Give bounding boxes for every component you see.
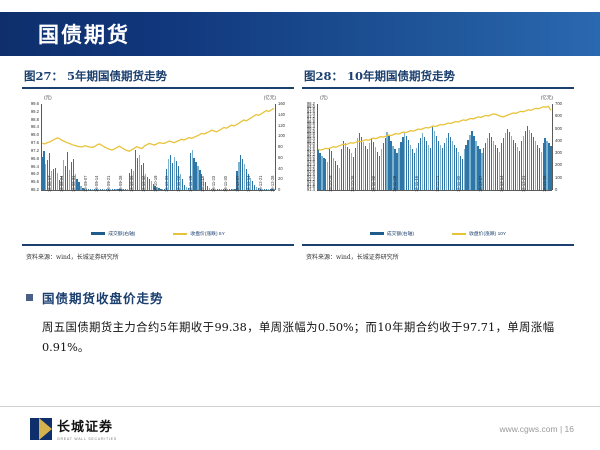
chart-ytick-right: 0 — [555, 188, 573, 192]
chart-xtick: 18-12-14 — [247, 176, 251, 192]
chart-axis-right — [275, 104, 276, 190]
chart-canvas-fig28: (元)(亿元)91.491.691.892.092.292.492.692.89… — [302, 94, 574, 212]
chart-canvas-fig27: (元)(亿元)95.295.696.096.496.897.297.698.09… — [22, 94, 294, 212]
legend-label: 成交额(右轴) — [108, 230, 135, 237]
chart-ytick-left: 95.2 — [23, 188, 39, 192]
chart-bar — [550, 146, 551, 190]
chart-xtick: 18-08-31 — [72, 176, 76, 192]
chart-xtick: 18-11-16 — [415, 176, 419, 192]
chart-ytick-right: 40 — [278, 167, 293, 171]
figure-fig28: 图28： 10年期国债期货走势 (元)(亿元)91.491.691.892.09… — [302, 68, 574, 286]
figure-fig27: 图27： 5年期国债期货走势 (元)(亿元)95.295.696.096.496… — [22, 68, 294, 286]
figure-source: 资料来源：wind，长城证券研究所 — [22, 252, 119, 261]
chart-ytick-right: 700 — [555, 102, 573, 106]
legend-item: 成交额(右轴) — [370, 230, 414, 237]
chart-ytick-right: 400 — [555, 139, 573, 143]
chart-ytick-left: 99.6 — [23, 102, 39, 106]
chart-ytick-right: 500 — [555, 127, 573, 131]
chart-xtick: 18-11-09 — [393, 176, 397, 192]
chart-xtick: 18-10-12 — [142, 176, 146, 192]
legend-bar-swatch-icon — [91, 232, 105, 235]
chart-xtick: 18-12-07 — [479, 176, 483, 192]
chart-xtick: 18-11-09 — [189, 176, 193, 192]
chart-xtick: 18-09-28 — [119, 176, 123, 192]
chart-xtick: 18-10-19 — [154, 176, 158, 192]
chart-xtick: 18-11-23 — [436, 176, 440, 192]
chart-xtick: 18-12-14 — [500, 176, 504, 192]
figure-source: 资料来源：wind，长城证券研究所 — [302, 252, 399, 261]
company-logo: 长城证券 GREAT WALL SECURITIES — [30, 416, 117, 441]
chart-xtick: 18-12-07 — [236, 176, 240, 192]
chart-ytick-left: 98.2 — [303, 102, 315, 106]
chart-xtick: 18-09-21 — [107, 176, 111, 192]
chart-ytick-left: 98.8 — [23, 118, 39, 122]
chart-right-unit: (亿元) — [264, 95, 276, 101]
chart-ytick-right: 80 — [278, 145, 293, 149]
chart-ytick-right: 20 — [278, 177, 293, 181]
chart-ytick-right: 140 — [278, 113, 293, 117]
chart-legend-fig27: 成交额(右轴)收盘价(涨跌) 5Y — [22, 230, 294, 237]
figure-title: 图27： 5年期国债期货走势 — [22, 68, 294, 84]
section-heading: 国债期货收盘价走势 — [26, 288, 164, 307]
figure-bottom-rule — [302, 244, 574, 246]
chart-price-line — [22, 94, 294, 212]
chart-xtick: 18-10-05 — [130, 176, 134, 192]
chart-xtick: 18-11-16 — [201, 176, 205, 192]
chart-xtick: 18-08-17 — [48, 176, 52, 192]
bullet-square-icon — [26, 294, 33, 301]
section-heading-label: 国债期货收盘价走势 — [42, 288, 164, 307]
legend-label: 成交额(右轴) — [387, 230, 414, 237]
chart-xtick: 18-12-28 — [543, 176, 547, 192]
chart-ytick-right: 100 — [278, 134, 293, 138]
footer-page-number: 16 — [565, 424, 574, 434]
legend-bar-swatch-icon — [370, 232, 384, 235]
footer-separator: | — [560, 424, 562, 434]
chart-right-unit: (亿元) — [541, 95, 553, 101]
chart-ytick-left: 95.6 — [23, 180, 39, 184]
chart-left-unit: (元) — [44, 95, 52, 101]
chart-xtick: 18-10-19 — [329, 176, 333, 192]
slide: 国债期货 图27： 5年期国债期货走势 (元)(亿元)95.295.696.09… — [0, 0, 600, 450]
chart-ytick-right: 300 — [555, 151, 573, 155]
legend-item: 收盘价(涨跌) 5Y — [173, 230, 224, 237]
chart-legend-fig28: 成交额(右轴)收盘价(涨跌) 10Y — [302, 230, 574, 237]
chart-xtick: 18-10-26 — [351, 176, 355, 192]
logo-text-cn: 长城证券 — [57, 416, 117, 435]
chart-xtick: 18-11-23 — [212, 176, 216, 192]
page-title: 国债期货 — [38, 19, 130, 49]
chart-ytick-left: 96.4 — [23, 165, 39, 169]
figure-title-rule — [302, 87, 574, 89]
legend-item: 收盘价(涨跌) 10Y — [452, 230, 506, 237]
chart-xtick: 18-12-28 — [271, 176, 275, 192]
chart-ytick-right: 60 — [278, 156, 293, 160]
chart-xtick: 18-12-21 — [259, 176, 263, 192]
legend-item: 成交额(右轴) — [91, 230, 135, 237]
chart-xtick: 18-12-21 — [522, 176, 526, 192]
chart-xtick: 18-11-30 — [224, 176, 228, 192]
chart-xtick: 18-11-30 — [457, 176, 461, 192]
chart-ytick-left: 96.0 — [23, 172, 39, 176]
chart-ytick-right: 160 — [278, 102, 293, 106]
chart-ytick-left: 97.2 — [23, 149, 39, 153]
chart-ytick-left: 98.4 — [23, 125, 39, 129]
chart-ytick-right: 200 — [555, 163, 573, 167]
chart-ytick-right: 0 — [278, 188, 293, 192]
chart-ytick-right: 600 — [555, 114, 573, 118]
chart-xtick: 18-08-24 — [60, 176, 64, 192]
figure-bottom-rule — [22, 244, 294, 246]
chart-ytick-right: 120 — [278, 124, 293, 128]
chart-xtick: 18-09-14 — [95, 176, 99, 192]
chart-ytick-left: 98.0 — [23, 133, 39, 137]
chart-xtick: 18-10-26 — [165, 176, 169, 192]
legend-line-swatch-icon — [452, 233, 466, 235]
logo-text-en: GREAT WALL SECURITIES — [57, 437, 117, 441]
figure-title: 图28： 10年期国债期货走势 — [302, 68, 574, 84]
footer-site: www.cgws.com — [499, 424, 557, 434]
legend-label: 收盘价(涨跌) 5Y — [190, 230, 224, 237]
chart-ytick-left: 96.8 — [23, 157, 39, 161]
figure-title-rule — [22, 87, 294, 89]
chart-ytick-left: 99.2 — [23, 110, 39, 114]
chart-left-unit: (元) — [320, 95, 328, 101]
legend-line-swatch-icon — [173, 233, 187, 235]
legend-label: 收盘价(涨跌) 10Y — [469, 230, 506, 237]
chart-ytick-right: 100 — [555, 176, 573, 180]
chart-xtick: 18-09-07 — [84, 176, 88, 192]
chart-ytick-left: 97.6 — [23, 141, 39, 145]
footer-meta: www.cgws.com | 16 — [499, 424, 574, 434]
great-wall-mark-icon — [30, 418, 52, 440]
chart-xtick: 18-11-02 — [372, 176, 376, 192]
footer-divider — [0, 406, 600, 407]
chart-axis-right — [552, 104, 553, 190]
chart-xtick: 18-11-02 — [177, 176, 181, 192]
body-paragraph: 周五国债期货主力合约5年期收于99.38，单周涨幅为0.50%；而10年期合约收… — [42, 318, 554, 358]
